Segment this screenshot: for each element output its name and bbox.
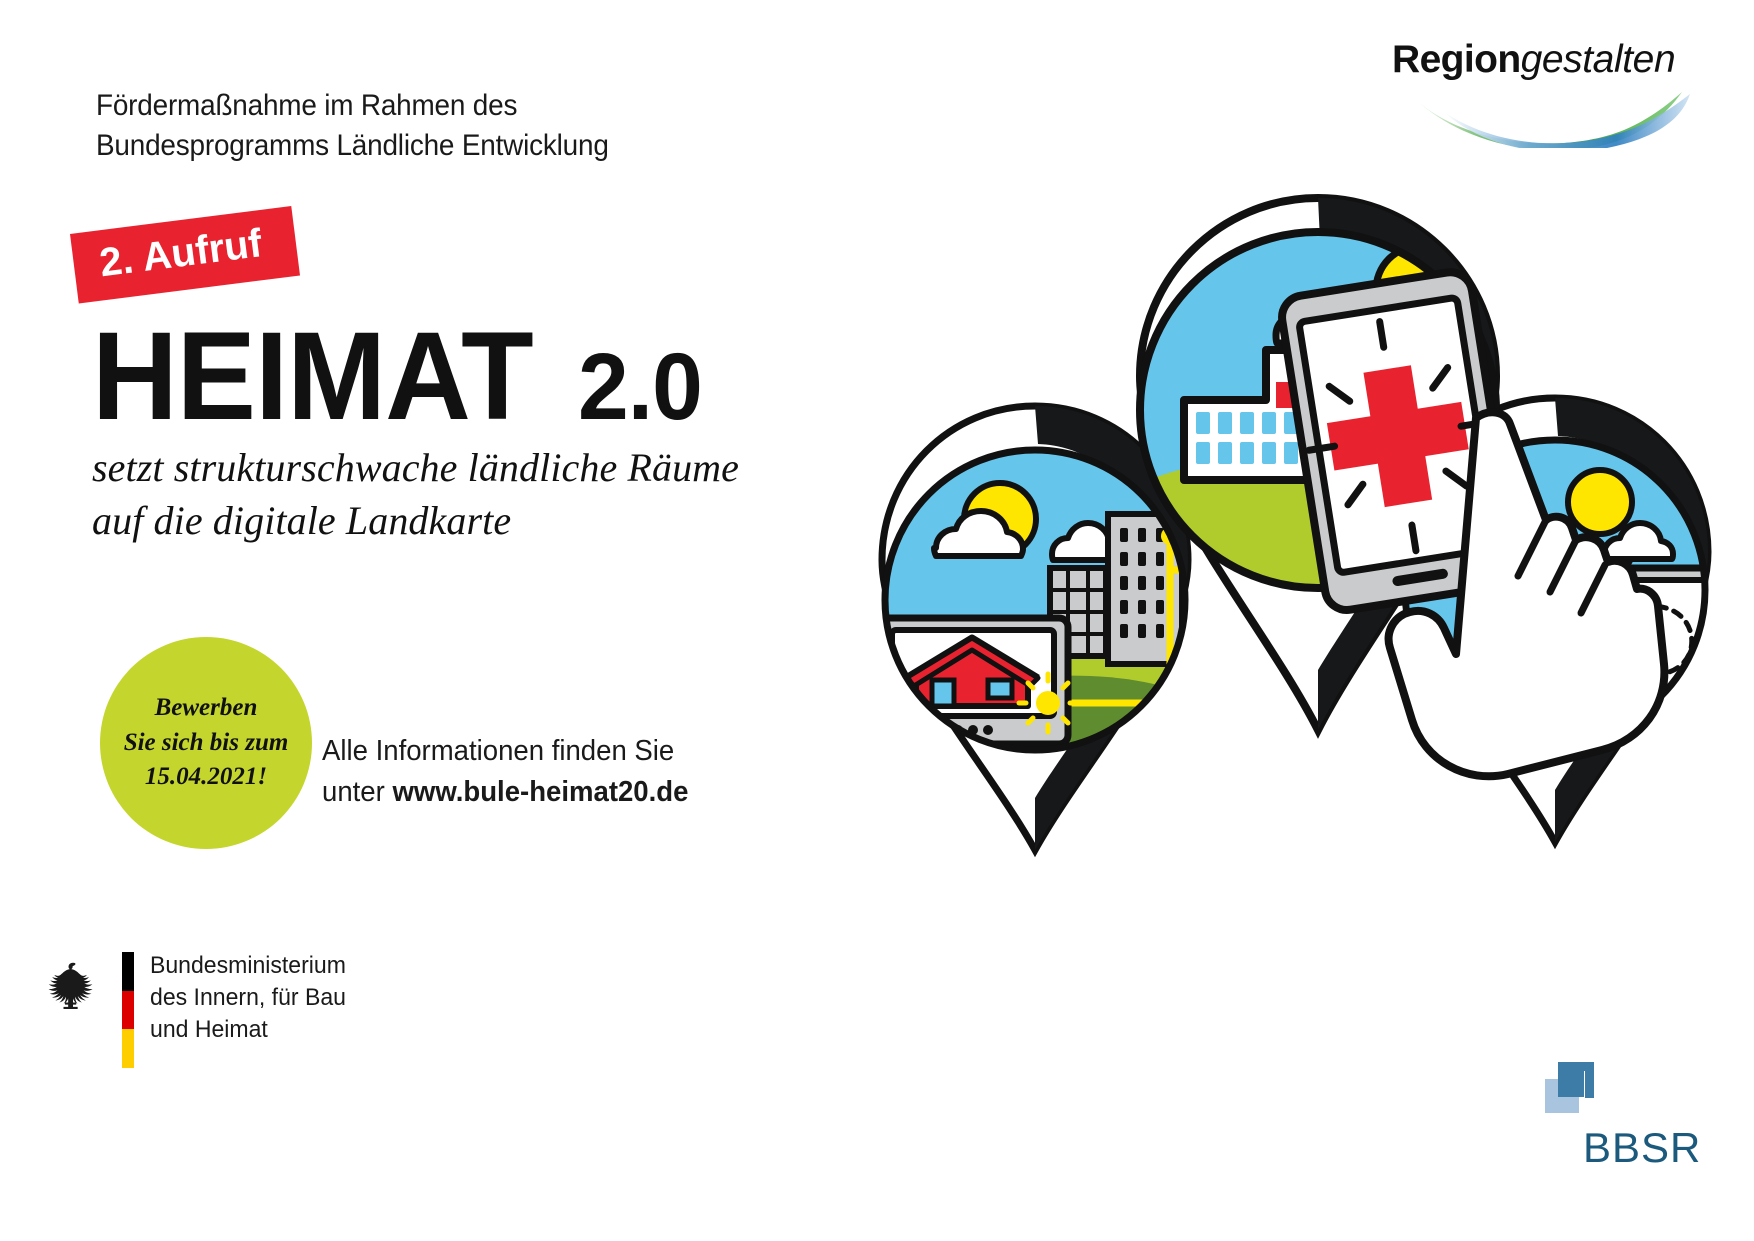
title-tagline: setzt strukturschwache ländliche Räume a… bbox=[92, 441, 739, 547]
website-url[interactable]: www.bule-heimat20.de bbox=[392, 776, 688, 808]
swoosh-icon bbox=[1410, 90, 1692, 148]
deadline-badge: Bewerben Sie sich bis zum 15.04.2021! bbox=[100, 637, 312, 849]
info-line-1: Alle Informationen finden Sie bbox=[322, 731, 688, 772]
call-badge: 2. Aufruf bbox=[70, 206, 300, 303]
brand-wordmark: Regiongestalten bbox=[1392, 38, 1675, 82]
deadline-line-2: Sie sich bis zum bbox=[124, 726, 289, 761]
german-flag-bar bbox=[122, 952, 134, 1068]
title-version: 2.0 bbox=[578, 340, 702, 435]
ministry-logo: Bundesministerium des Innern, für Bau un… bbox=[42, 950, 362, 1080]
map-pins-illustration bbox=[700, 150, 1754, 1150]
region-gestalten-logo: Regiongestalten bbox=[1392, 38, 1692, 148]
programme-note: Fördermaßnahme im Rahmen des Bundesprogr… bbox=[96, 86, 609, 165]
federal-eagle-icon bbox=[42, 956, 104, 1018]
page-title: HEIMAT 2.0 bbox=[92, 314, 707, 439]
deadline-line-1: Bewerben bbox=[155, 691, 258, 726]
brand-word-gestalten: gestalten bbox=[1521, 38, 1676, 81]
poster-canvas: Fördermaßnahme im Rahmen des Bundesprogr… bbox=[0, 0, 1754, 1241]
info-line-2: unter www.bule-heimat20.de bbox=[322, 772, 688, 813]
brand-word-region: Region bbox=[1392, 38, 1521, 81]
info-line-2-prefix: unter bbox=[322, 776, 392, 808]
info-text: Alle Informationen finden Sie unter www.… bbox=[322, 731, 688, 813]
deadline-line-3: 15.04.2021! bbox=[145, 760, 267, 795]
seal-icon bbox=[1710, 610, 1754, 684]
ministry-name: Bundesministerium des Innern, für Bau un… bbox=[150, 950, 346, 1046]
title-main: HEIMAT bbox=[92, 314, 533, 439]
